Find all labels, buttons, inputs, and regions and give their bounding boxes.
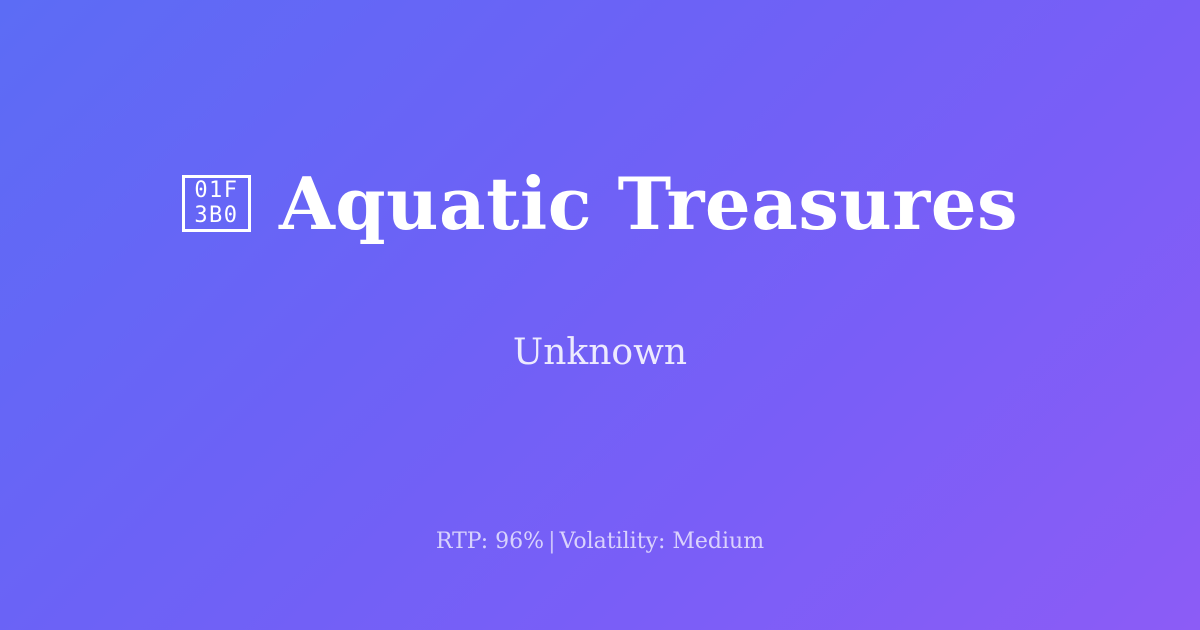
rtp-value: RTP: 96% bbox=[436, 529, 544, 554]
hero-block: 01F 3B0 Aquatic Treasures Unknown bbox=[0, 0, 1200, 492]
game-share-card: 01F 3B0 Aquatic Treasures Unknown RTP: 9… bbox=[0, 0, 1200, 630]
codepoint-row-low: 3B0 bbox=[194, 205, 238, 227]
slot-machine-icon: 01F 3B0 bbox=[182, 175, 251, 232]
codepoint-row-high: 01F bbox=[194, 180, 238, 202]
meta-separator: | bbox=[544, 529, 559, 554]
game-meta-line: RTP: 96%|Volatility: Medium bbox=[0, 528, 1200, 557]
provider-name: Unknown bbox=[513, 331, 687, 374]
volatility-value: Volatility: Medium bbox=[560, 529, 765, 554]
title-row: 01F 3B0 Aquatic Treasures bbox=[182, 117, 1018, 289]
page-title: Aquatic Treasures bbox=[279, 166, 1018, 242]
